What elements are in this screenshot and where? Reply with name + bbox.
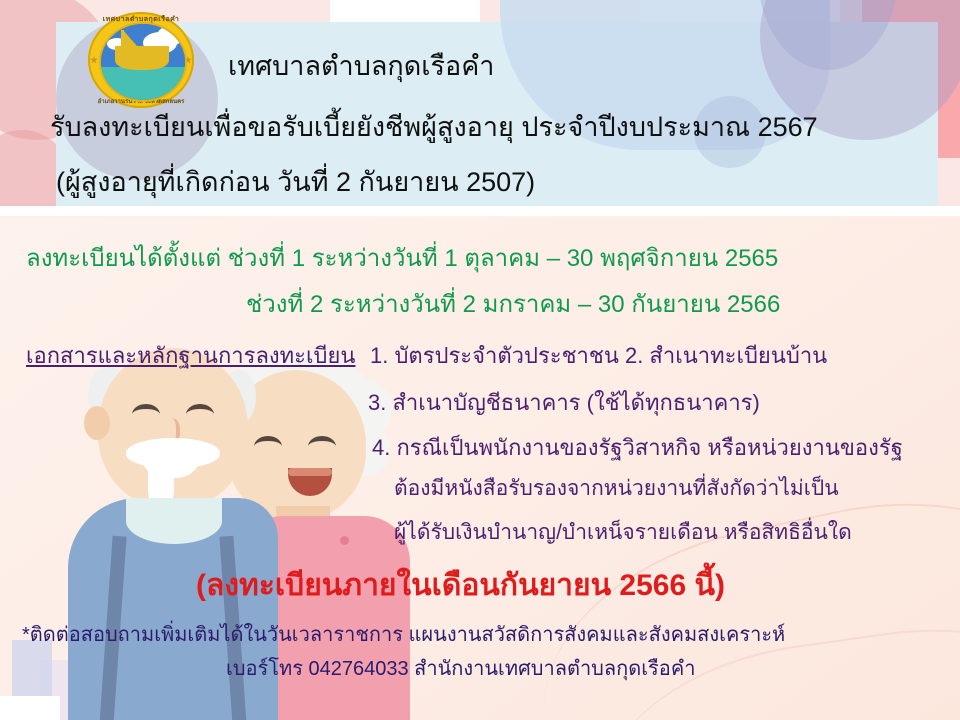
man-eye-left <box>132 404 160 425</box>
band-bottom-gap <box>0 206 960 216</box>
man-collar <box>126 498 222 544</box>
document-item-3: 3. สำเนาบัญชีธนาคาร (ใช้ได้ทุกธนาคาร) <box>368 385 760 420</box>
man-eye-right <box>186 404 214 425</box>
document-item-4-line-1: 4. กรณีเป็นพนักงานของรัฐวิสาหกิจ หรือหน่… <box>372 430 903 465</box>
header-line-1: เทศบาลตำบลกุดเรือคำ <box>228 44 494 87</box>
documents-heading: เอกสารและหลักฐานการลงทะเบียน <box>26 338 355 373</box>
deadline-callout: (ลงทะเบียนภายในเดือนกันยายน 2566 นี้) <box>196 562 725 609</box>
woman-button <box>340 536 349 545</box>
poster-canvas: เทศบาลตำบลกุดเรือคำ อำเภอวานรนิวาส จังหว… <box>0 0 960 720</box>
woman-eye-right <box>308 436 336 457</box>
seal-water <box>101 67 185 100</box>
footer-contact-line-1: *ติดต่อสอบถามเพิ่มเติมได้ในวันเวลาราชการ… <box>22 618 785 650</box>
document-item-1: 1. บัตรประจำตัวประชาชน 2. สำเนาทะเบียนบ้… <box>370 338 827 373</box>
header-line-2: รับลงทะเบียนเพื่อขอรับเบี้ยยังชีพผู้สูงอ… <box>50 105 818 148</box>
registration-period-line-2: ช่วงที่ 2 ระหว่างวันที่ 2 มกราคม – 30 กั… <box>246 284 780 323</box>
seal-inner-scene <box>99 22 187 102</box>
seal-cloud <box>157 26 183 46</box>
registration-period-line-1: ลงทะเบียนได้ตั้งแต่ ช่วงที่ 1 ระหว่างวัน… <box>26 238 778 277</box>
man-ear <box>84 406 110 440</box>
header-line-3: (ผู้สูงอายุที่เกิดก่อน วันที่ 2 กันยายน … <box>56 160 535 203</box>
man-mustache <box>126 438 220 468</box>
document-item-4-line-2: ต้องมีหนังสือรับรองจากหน่วยงานที่สังกัดว… <box>394 472 839 505</box>
municipality-seal-logo: เทศบาลตำบลกุดเรือคำ อำเภอวานรนิวาส จังหว… <box>88 12 194 108</box>
document-item-4-line-3: ผู้ได้รับเงินบำนาญ/บำเหน็จรายเดือน หรือส… <box>394 516 852 549</box>
footer-contact-line-2: เบอร์โทร 042764033 สำนักงานเทศบาลตำบลกุด… <box>226 652 695 684</box>
woman-eye-left <box>254 436 282 457</box>
woman-lip <box>288 468 332 476</box>
